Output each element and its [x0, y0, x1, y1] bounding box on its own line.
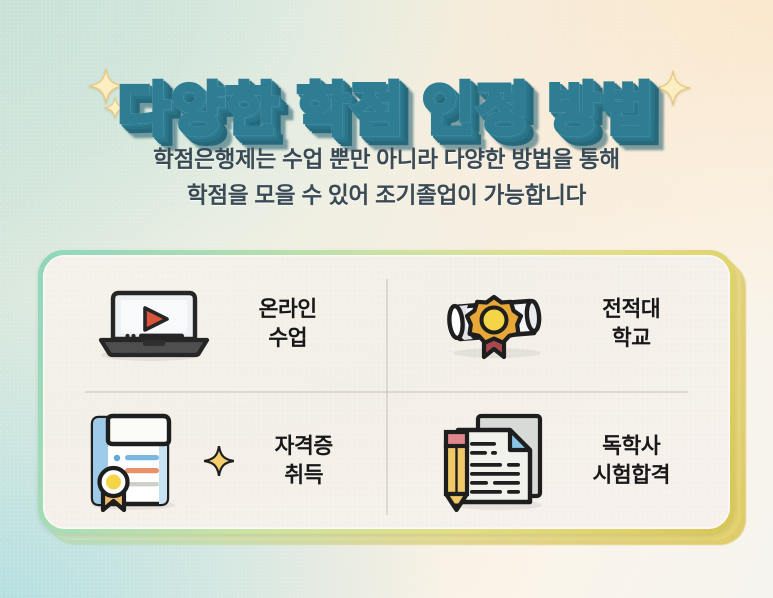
method-item-certificate[interactable]: 자격증 취득 [43, 392, 387, 529]
method-item-exam-pass[interactable]: 독학사 시험합격 [387, 392, 731, 529]
subtitle-block: 학점은행제는 수업 뿐만 아니라 다양한 방법을 통해 학점을 모을 수 있어 … [0, 142, 773, 215]
exam-documents-pencil-icon [433, 410, 561, 512]
methods-card-wrapper: 온라인 수업 [38, 250, 735, 534]
method-item-previous-university[interactable]: 전적대 학교 [387, 255, 731, 392]
subtitle-line-2: 학점을 모을 수 있어 조기졸업이 가능합니다 [0, 178, 773, 214]
method-label-online-class: 온라인 수업 [236, 295, 340, 353]
label-line-2: 시험합격 [579, 461, 683, 490]
previous-university-diploma-icon [433, 281, 561, 367]
methods-card: 온라인 수업 [38, 250, 735, 534]
method-label-certificate: 자격증 취득 [252, 432, 356, 490]
certificate-sparkle-icon [204, 446, 234, 476]
label-line-1: 온라인 [236, 295, 340, 324]
label-line-2: 취득 [252, 461, 356, 490]
method-item-online-class[interactable]: 온라인 수업 [43, 255, 387, 392]
online-class-laptop-icon [90, 281, 218, 367]
method-label-exam-pass: 독학사 시험합격 [579, 432, 683, 490]
subtitle-line-1: 학점은행제는 수업 뿐만 아니라 다양한 방법을 통해 [0, 142, 773, 178]
label-line-1: 자격증 [252, 432, 356, 461]
label-line-2: 학교 [579, 324, 683, 353]
page-title: 다양한 학점 인정 방법 [118, 80, 655, 140]
methods-card-inner: 온라인 수업 [43, 255, 730, 529]
label-line-1: 전적대 [579, 295, 683, 324]
poster-canvas: 다양한 학점 인정 방법 학점은행제는 수업 뿐만 아니라 다양한 방법을 통해… [0, 0, 773, 598]
label-line-1: 독학사 [579, 432, 683, 461]
label-line-2: 수업 [236, 324, 340, 353]
certificate-award-icon [74, 410, 202, 512]
methods-grid: 온라인 수업 [43, 255, 730, 529]
method-label-previous-university: 전적대 학교 [579, 295, 683, 353]
